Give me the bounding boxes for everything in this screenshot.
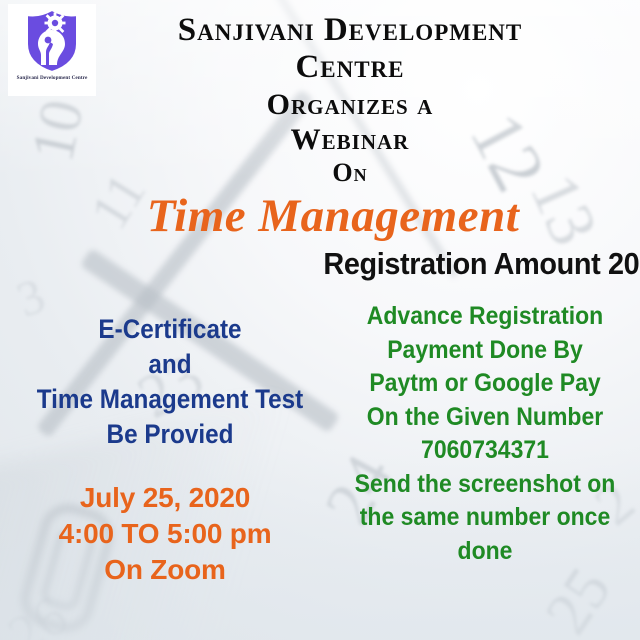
benefit-line-3: Time Management Test: [17, 382, 323, 417]
schedule-date: July 25, 2020: [0, 480, 330, 516]
schedule-time: 4:00 TO 5:00 pm: [0, 516, 330, 552]
headline-line-4: Webinar: [72, 125, 628, 155]
payment-line-8: done: [342, 535, 627, 569]
benefits-block: E-Certificate and Time Management Test B…: [17, 312, 323, 452]
payment-line-6: Send the screenshot on: [342, 468, 627, 502]
payment-instructions-block: Advance Registration Payment Done By Pay…: [342, 300, 627, 568]
payment-phone-number: 7060734371: [342, 434, 627, 468]
poster-content: Sanjivani Development Centre Sanjivani D…: [0, 0, 640, 640]
headline-line-2: Centre: [72, 51, 628, 84]
registration-amount: Registration Amount 200/-: [323, 246, 634, 282]
payment-line-3: Paytm or Google Pay: [342, 367, 627, 401]
payment-line-1: Advance Registration: [342, 300, 627, 334]
payment-line-2: Payment Done By: [342, 334, 627, 368]
headline-block: Sanjivani Development Centre Organizes a…: [72, 14, 628, 186]
benefit-line-2: and: [17, 347, 323, 382]
webinar-topic-title: Time Management: [46, 193, 620, 240]
headline-line-1: Sanjivani Development: [72, 14, 628, 47]
headline-line-3: Organizes a: [72, 90, 628, 120]
webinar-poster: 10 11 12 13 23 24 25 26 2 3: [0, 0, 640, 640]
headline-line-5: On: [72, 160, 628, 186]
benefit-line-1: E-Certificate: [17, 312, 323, 347]
schedule-block: July 25, 2020 4:00 TO 5:00 pm On Zoom: [0, 480, 330, 587]
benefit-line-4: Be Provied: [17, 417, 323, 452]
schedule-platform: On Zoom: [0, 552, 330, 588]
payment-line-7: the same number once: [342, 501, 627, 535]
payment-line-4: On the Given Number: [342, 401, 627, 435]
